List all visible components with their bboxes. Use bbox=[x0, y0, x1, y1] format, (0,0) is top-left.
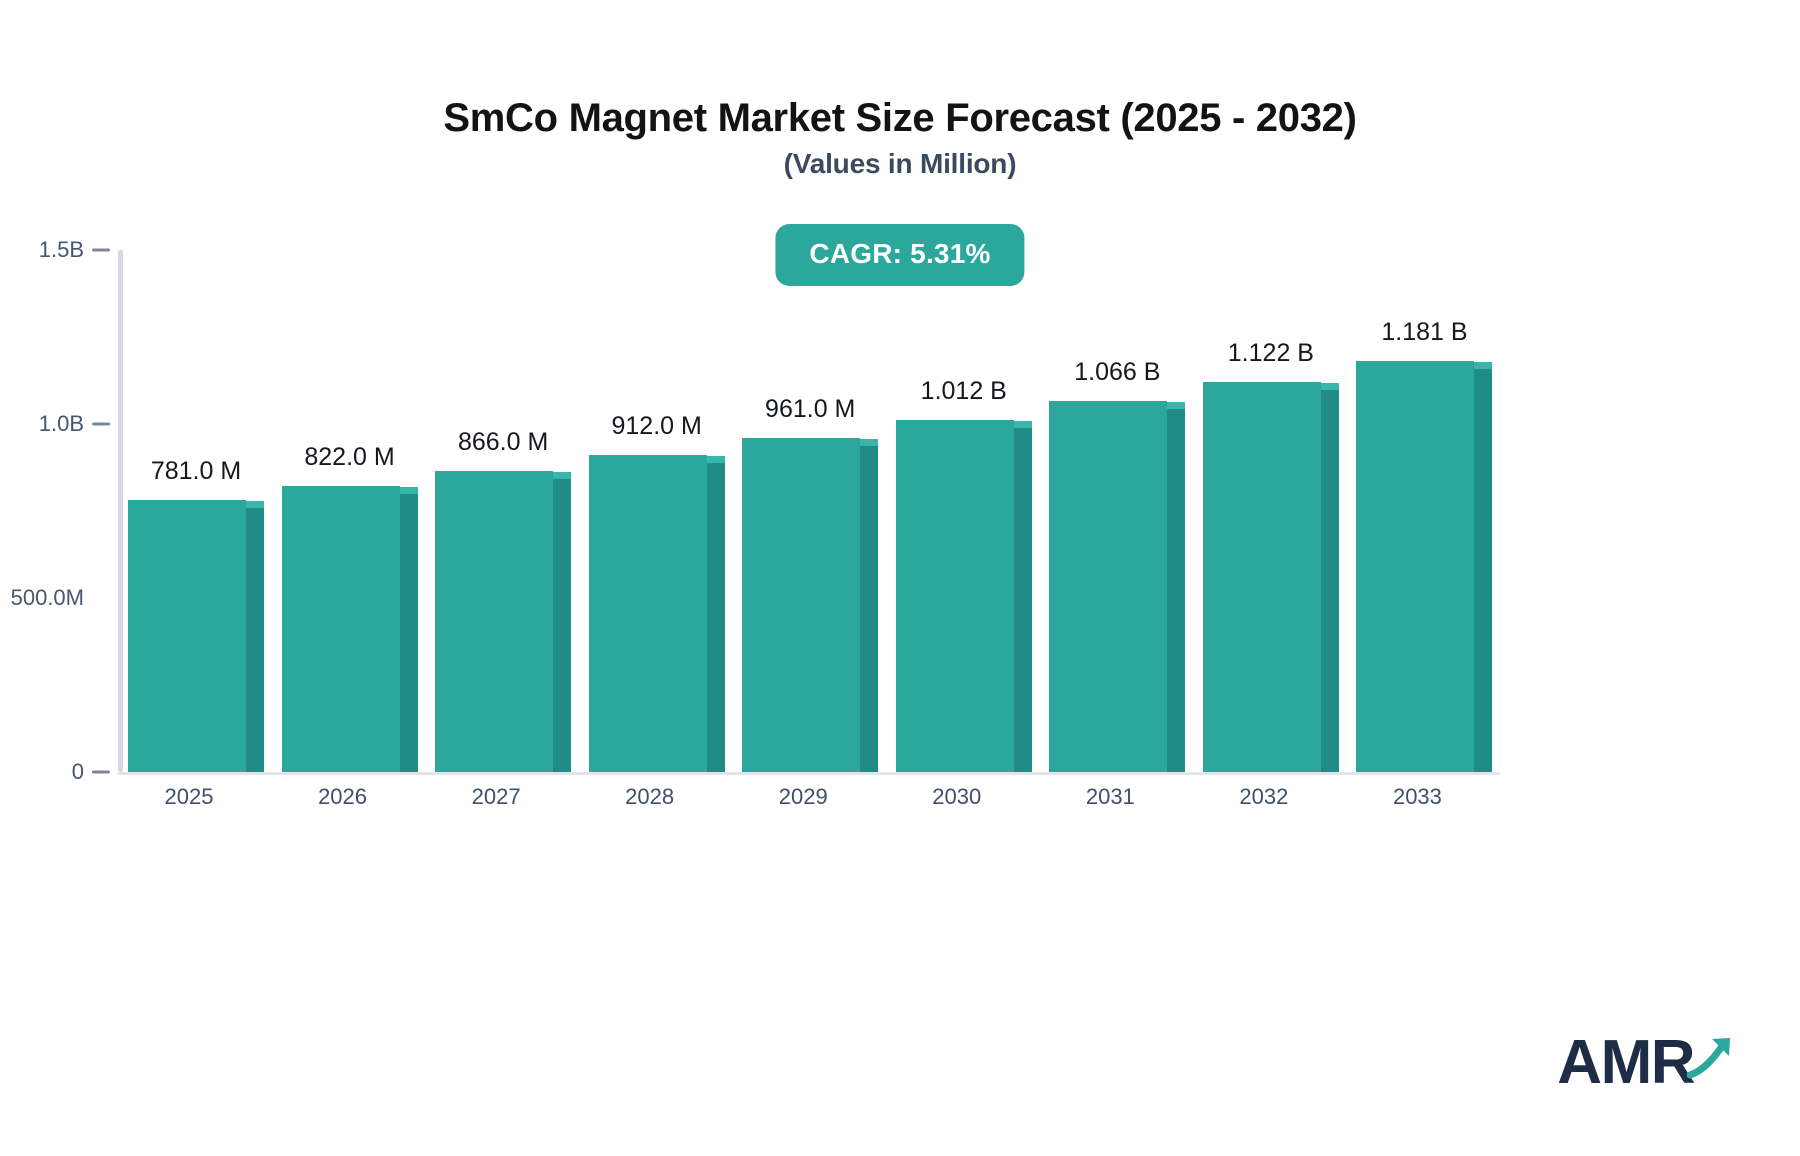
x-axis-tick-label: 2031 bbox=[1086, 784, 1135, 810]
bar-value-label: 822.0 M bbox=[304, 443, 394, 472]
bar[interactable]: 1.181 B bbox=[1356, 361, 1492, 772]
bar-series: 781.0 M2025822.0 M2026866.0 M2027912.0 M… bbox=[118, 250, 1500, 772]
y-axis-labels: 0500.0M1.0B1.5B bbox=[0, 250, 118, 775]
bar-value-label: 1.181 B bbox=[1381, 318, 1467, 347]
bar-value-label: 1.012 B bbox=[921, 377, 1007, 406]
bar-top-face bbox=[1321, 383, 1339, 390]
x-axis-tick-label: 2033 bbox=[1393, 784, 1442, 810]
bar-front-face bbox=[589, 455, 707, 772]
bar-side-face bbox=[1167, 409, 1185, 772]
x-axis-tick-label: 2028 bbox=[625, 784, 674, 810]
bar-side-face bbox=[707, 463, 725, 772]
bar-top-face bbox=[1014, 421, 1032, 428]
bar[interactable]: 912.0 M bbox=[589, 455, 725, 772]
bar[interactable]: 1.012 B bbox=[896, 420, 1032, 772]
bar-front-face bbox=[1049, 401, 1167, 772]
bar-side-face bbox=[1474, 369, 1492, 772]
x-axis-tick-label: 2032 bbox=[1239, 784, 1288, 810]
bar-side-face bbox=[246, 508, 264, 772]
bar-front-face bbox=[128, 500, 246, 772]
bar-top-face bbox=[1167, 402, 1185, 409]
growth-arrow-icon bbox=[1684, 1031, 1738, 1090]
bar[interactable]: 866.0 M bbox=[435, 471, 571, 772]
amr-logo: AMR bbox=[1557, 1024, 1738, 1094]
x-axis-tick-label: 2025 bbox=[165, 784, 214, 810]
chart-subtitle: (Values in Million) bbox=[0, 148, 1800, 180]
bar-front-face bbox=[435, 471, 553, 772]
bar[interactable]: 822.0 M bbox=[282, 486, 418, 772]
bar-value-label: 866.0 M bbox=[458, 428, 548, 457]
logo-wordmark: AMR bbox=[1557, 1032, 1694, 1094]
y-axis-tick-mark bbox=[92, 771, 110, 774]
x-axis-tick-label: 2030 bbox=[932, 784, 981, 810]
bar-value-label: 961.0 M bbox=[765, 395, 855, 424]
bar-top-face bbox=[553, 472, 571, 479]
bar-front-face bbox=[896, 420, 1014, 772]
y-axis-tick-label: 1.0B bbox=[39, 411, 84, 437]
x-axis-tick-label: 2026 bbox=[318, 784, 367, 810]
bar-side-face bbox=[1321, 390, 1339, 772]
chart-title: SmCo Magnet Market Size Forecast (2025 -… bbox=[0, 96, 1800, 141]
y-axis-tick-label: 500.0M bbox=[11, 585, 84, 611]
x-axis-tick-label: 2027 bbox=[472, 784, 521, 810]
bar-side-face bbox=[1014, 428, 1032, 772]
bar-value-label: 1.122 B bbox=[1228, 339, 1314, 368]
bar-top-face bbox=[246, 501, 264, 508]
bar-value-label: 912.0 M bbox=[611, 412, 701, 441]
bar-side-face bbox=[553, 479, 571, 772]
bar-side-face bbox=[860, 446, 878, 772]
bar-top-face bbox=[707, 456, 725, 463]
y-axis-tick-mark bbox=[92, 423, 110, 426]
chart-canvas: SmCo Magnet Market Size Forecast (2025 -… bbox=[0, 0, 1800, 1156]
y-axis-tick-label: 0 bbox=[72, 759, 84, 785]
bar-front-face bbox=[282, 486, 400, 772]
bar-top-face bbox=[1474, 362, 1492, 369]
bar[interactable]: 1.066 B bbox=[1049, 401, 1185, 772]
plot-area: 781.0 M2025822.0 M2026866.0 M2027912.0 M… bbox=[118, 250, 1500, 772]
bar-top-face bbox=[860, 439, 878, 446]
bar-value-label: 1.066 B bbox=[1074, 358, 1160, 387]
bar-top-face bbox=[400, 487, 418, 494]
bar-value-label: 781.0 M bbox=[151, 457, 241, 486]
bar-front-face bbox=[1356, 361, 1474, 772]
x-axis-line bbox=[118, 772, 1500, 775]
x-axis-tick-label: 2029 bbox=[779, 784, 828, 810]
bar-side-face bbox=[400, 494, 418, 772]
bar[interactable]: 781.0 M bbox=[128, 500, 264, 772]
y-axis-tick-label: 1.5B bbox=[39, 237, 84, 263]
bar-front-face bbox=[742, 438, 860, 772]
bar[interactable]: 1.122 B bbox=[1203, 382, 1339, 772]
bar[interactable]: 961.0 M bbox=[742, 438, 878, 772]
y-axis-tick-mark bbox=[92, 249, 110, 252]
bar-front-face bbox=[1203, 382, 1321, 772]
